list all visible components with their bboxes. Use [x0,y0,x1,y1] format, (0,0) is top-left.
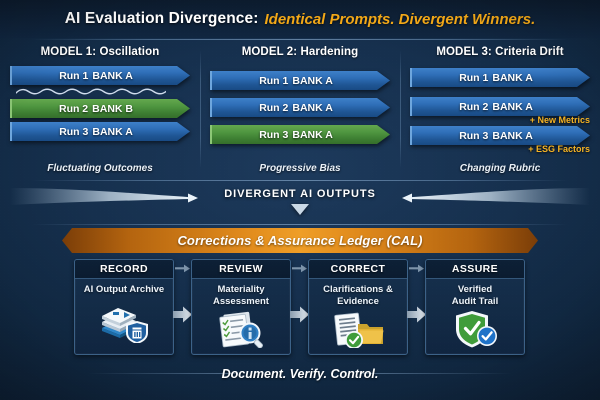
cal-label: Corrections & Assurance Ledger (CAL) [177,233,422,248]
step-assure[interactable]: ASSURE VerifiedAudit Trail [425,259,525,355]
criteria-badge: + ESG Factors [528,144,590,154]
model-columns: MODEL 1: Oscillation Run 1BANK A [0,42,600,172]
divergent-outputs-band: DIVERGENT AI OUTPUTS [0,186,600,220]
models-bottom-divider [32,180,568,181]
model-3-caption: Changing Rubric [400,163,600,174]
model-column-2: MODEL 2: Hardening Run 1BANK A Run 2BANK [200,42,400,172]
run-arrow[interactable]: Run 3BANK A [410,126,590,145]
page-title: AI Evaluation Divergence: Identical Prom… [0,0,600,38]
step-correct[interactable]: CORRECT Clarifications &Evidence [308,259,408,355]
flow-arrow-icon [173,306,192,323]
run-arrow[interactable]: Run 2BANK B [10,99,190,118]
model-3-row-1: Run 1BANK A [410,68,590,88]
run-label: Run 1BANK A [59,70,133,82]
title-highlight: Identical Prompts. Divergent Winners. [264,11,535,28]
oscillation-wave-icon [16,87,166,96]
model-2-row-1: Run 1BANK A [210,71,390,91]
cal-process-steps: RECORD AI Output Archive [74,259,526,355]
run-label: Run 3BANK A [59,126,133,138]
step-review[interactable]: REVIEW MaterialityAssessment [191,259,291,355]
model-3-heading: MODEL 3: Criteria Drift [410,46,590,58]
model-2-row-3: Run 3BANK A [210,125,390,145]
step-record[interactable]: RECORD AI Output Archive [74,259,174,355]
model-1-rows: Run 1BANK A Run 2BANK B [10,66,190,142]
model-1-caption: Fluctuating Outcomes [0,163,200,174]
divergent-label: DIVERGENT AI OUTPUTS [0,188,600,200]
run-arrow[interactable]: Run 3BANK A [10,122,190,141]
step-record-subtitle: AI Output Archive [75,279,173,296]
model-3-rows: Run 1BANK A Run 2BANK A + New Metrics [410,68,590,146]
down-triangle-icon [291,204,309,215]
connector-correct-assure [408,259,425,355]
footer-label: Document. Verify. Control. [212,367,389,381]
run-label: Run 1BANK A [259,75,333,87]
step-review-subtitle: MaterialityAssessment [192,279,290,307]
title-main: AI Evaluation Divergence: [65,10,259,28]
model-2-rows: Run 1BANK A Run 2BANK A [210,71,390,145]
title-divider [32,39,568,40]
model-2-heading: MODEL 2: Hardening [210,46,390,58]
model-1-row-2: Run 2BANK B [10,99,190,119]
run-label: Run 2BANK B [59,103,133,115]
run-arrow[interactable]: Run 1BANK A [210,71,390,90]
run-label: Run 1BANK A [459,72,533,84]
checklist-magnifier-icon [192,307,290,354]
model-1-row-3: Run 3BANK A [10,122,190,142]
run-arrow[interactable]: Run 2BANK A [410,97,590,116]
model-2-caption: Progressive Bias [200,163,400,174]
run-arrow[interactable]: Run 2BANK A [210,98,390,117]
archive-stack-icon [75,296,173,355]
model-column-3: MODEL 3: Criteria Drift Run 1BANK A Run [400,42,600,172]
run-label: Run 3BANK A [259,129,333,141]
cal-top-divider [32,224,568,225]
connector-review-correct [291,259,308,355]
cal-banner[interactable]: Corrections & Assurance Ledger (CAL) [62,228,538,253]
step-correct-header: CORRECT [309,260,407,279]
model-1-row-1: Run 1BANK A [10,66,190,96]
small-arrow-icon [175,264,190,273]
model-3-row-2: Run 2BANK A + New Metrics [410,97,590,117]
run-arrow[interactable]: Run 1BANK A [10,66,190,85]
flow-arrow-icon [407,306,426,323]
step-assure-subtitle: VerifiedAudit Trail [426,279,524,307]
connector-record-review [174,259,191,355]
run-label: Run 3BANK A [459,130,533,142]
shield-check-icon [426,307,524,354]
step-review-header: REVIEW [192,260,290,279]
document-folder-check-icon [309,307,407,354]
run-arrow[interactable]: Run 1BANK A [410,68,590,87]
criteria-badge: + New Metrics [530,115,590,125]
small-arrow-icon [409,264,424,273]
run-arrow[interactable]: Run 3BANK A [210,125,390,144]
step-correct-subtitle: Clarifications &Evidence [309,279,407,307]
model-2-row-2: Run 2BANK A [210,98,390,118]
run-label: Run 2BANK A [459,101,533,113]
flow-arrow-icon [290,306,309,323]
model-column-1: MODEL 1: Oscillation Run 1BANK A [0,42,200,172]
footer-tagline: Document. Verify. Control. [0,360,600,388]
infographic-canvas: AI Evaluation Divergence: Identical Prom… [0,0,600,400]
step-assure-header: ASSURE [426,260,524,279]
step-record-header: RECORD [75,260,173,279]
run-label: Run 2BANK A [259,102,333,114]
model-1-heading: MODEL 1: Oscillation [10,46,190,58]
model-3-row-3: Run 3BANK A + ESG Factors [410,126,590,146]
small-arrow-icon [292,264,307,273]
